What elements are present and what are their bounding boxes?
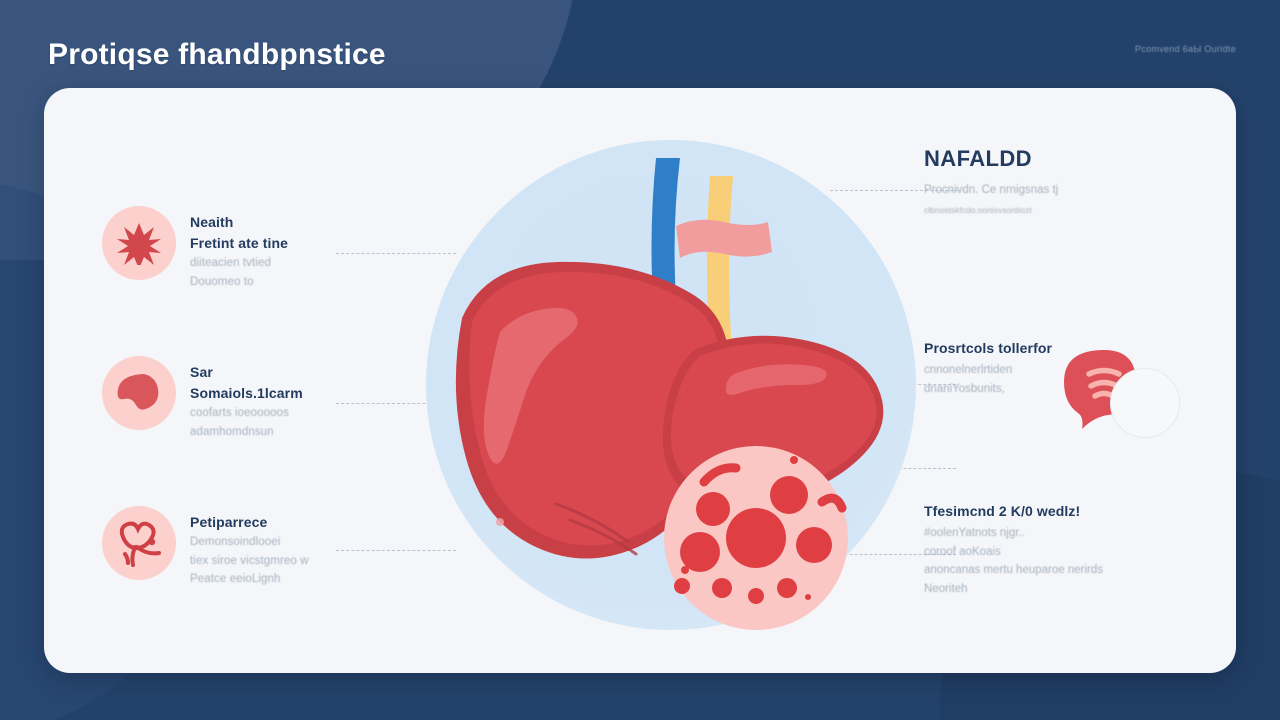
left-item-3-sub-c: Peatce eeioLignh	[190, 570, 309, 589]
gallbladder-nub	[676, 220, 772, 258]
content-card: Neaith Fretint ate tine diiteacien tvtie…	[44, 88, 1236, 673]
right-block-1[interactable]: Prosrtcols tollerfor cnnonelnerlrtiden d…	[924, 340, 1052, 398]
left-item-2-sub-b: adamhomdnsun	[190, 423, 303, 442]
liver-anatomy-illustration	[404, 118, 934, 648]
bubble-outline-ring	[1110, 368, 1180, 438]
right-block-2[interactable]: Tfesimcnd 2 K/0 wedlz! #oolenYatnots njg…	[924, 503, 1103, 599]
left-item-2-sub-a: coofarts ioeooooos	[190, 404, 303, 423]
left-item-3-sub-a: Demonsoindlooei	[190, 533, 309, 552]
left-item-2-title-a: Sar	[190, 362, 303, 383]
right-block-1-line-1: cnnonelnerlrtiden	[924, 361, 1052, 380]
left-item-1-title-a: Neaith	[190, 212, 288, 233]
right-block-1-title: Prosrtcols tollerfor	[924, 340, 1052, 356]
slide-root: Protiqse fhandbpnstice Pcomvend 6aЫ Ouri…	[0, 0, 1280, 720]
speech-bubble-waves-icon[interactable]	[1064, 346, 1180, 458]
left-item-3[interactable]: Petiparrece Demonsoindlooei tiex siroe v…	[102, 506, 309, 589]
right-block-2-line-3: anoncanas mertu heuparoe nerirds	[924, 561, 1103, 580]
bean-cell-icon	[102, 356, 176, 430]
right-block-2-line-1: #oolenYatnots njgr..	[924, 524, 1103, 543]
left-item-3-title-a: Petiparrece	[190, 512, 309, 533]
right-block-1-line-2: dnaniYosbunits,	[924, 380, 1052, 399]
left-item-3-sub-b: tiex siroe vicstgmreo w	[190, 552, 309, 571]
heart-ribbon-icon	[102, 506, 176, 580]
right-block-2-line-4: Neoriteh	[924, 580, 1103, 599]
right-heading-sub: Procnivdn. Ce nrnigsnas tj	[924, 181, 1058, 200]
right-block-2-title: Tfesimcnd 2 K/0 wedlz!	[924, 503, 1103, 519]
left-item-2[interactable]: Sar Somaiols.1lcarm coofarts ioeooooos a…	[102, 356, 303, 441]
left-item-1-title-b: Fretint ate tine	[190, 233, 288, 254]
left-item-2-title-b: Somaiols.1lcarm	[190, 383, 303, 404]
burst-cell-icon	[102, 206, 176, 280]
left-item-1-text: Neaith Fretint ate tine diiteacien tvtie…	[190, 206, 288, 291]
right-heading-block: NAFALDD Procnivdn. Ce nrnigsnas tj clbno…	[924, 146, 1058, 217]
right-heading-sub-tiny: clbnostskfcdo.oonixvsontiozt	[924, 204, 1058, 218]
left-item-1[interactable]: Neaith Fretint ate tine diiteacien tvtie…	[102, 206, 288, 291]
liver-surface-dot	[496, 518, 504, 526]
left-item-3-text: Petiparrece Demonsoindlooei tiex siroe v…	[190, 506, 309, 589]
left-item-1-sub-a: diiteacien tvtied	[190, 254, 288, 273]
right-heading: NAFALDD	[924, 146, 1058, 172]
right-block-2-line-2: coroof aoKoais	[924, 543, 1103, 562]
left-item-1-sub-b: Douomeo to	[190, 273, 288, 292]
left-item-2-text: Sar Somaiols.1lcarm coofarts ioeooooos a…	[190, 356, 303, 441]
deck-meta-label: Pcomvend 6aЫ Ouridte	[1135, 44, 1236, 54]
page-title: Protiqse fhandbpnstice	[48, 38, 386, 72]
